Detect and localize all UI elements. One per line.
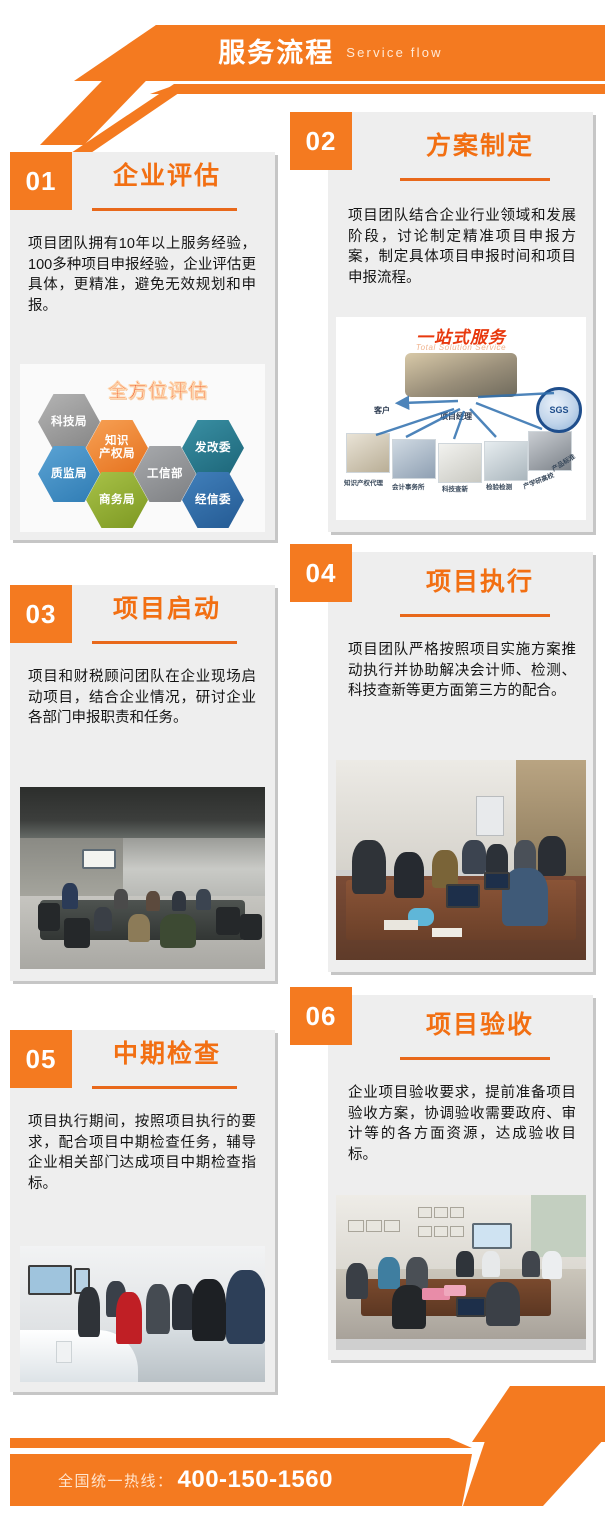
step-title-06: 项目验收 [380, 1013, 580, 1038]
header-title-cn: 服务流程 [218, 40, 334, 67]
footer-text-group: 全国统一热线： 400-150-1560 [58, 1454, 333, 1506]
step-title-04: 项目执行 [380, 570, 580, 595]
header-title-en: Service flow [346, 45, 442, 62]
step-card-03[interactable]: 03 项目启动 项目和财税顾问团队在企业现场启动项目，结合企业情况，研讨企业各部… [10, 585, 275, 981]
title-underline-03 [92, 641, 237, 644]
step-number-badge-05: 05 [10, 1030, 72, 1088]
showroom-visit-photo [20, 1246, 265, 1382]
step-title-03: 项目启动 [72, 597, 262, 622]
title-underline-05 [92, 1086, 237, 1089]
step-body-04: 项目团队严格按照项目实施方案推动执行并协助解决会计师、检测、科技查新等更方面第三… [348, 640, 576, 702]
footer-hotline-number[interactable]: 400-150-1560 [178, 1466, 333, 1494]
step-number-badge-06: 06 [290, 987, 352, 1045]
step-card-04[interactable]: 04 项目执行 项目团队严格按照项目实施方案推动执行并协助解决会计师、检测、科技… [328, 552, 593, 972]
footer-hotline-banner: 全国统一热线： 400-150-1560 [0, 1438, 605, 1538]
step-body-02: 项目团队结合企业行业领域和发展阶段，讨论制定精准项目申报方案，制定具体项目申报时… [348, 206, 576, 288]
service-flow-infographic: 服务流程 Service flow 01 企业评估 项目团队拥有10年以上服务经… [0, 0, 605, 1538]
step-card-06[interactable]: 06 项目验收 企业项目验收要求，提前准备项目验收方案，协调验收需要政府、审计等… [328, 995, 593, 1360]
hex-diagram-title: 全方位评估 [108, 376, 208, 403]
step-body-06: 企业项目验收要求，提前准备项目验收方案，协调验收需要政府、审计等的各方面资源，达… [348, 1083, 576, 1165]
step-body-05: 项目执行期间，按照项目执行的要求，配合项目中期检查任务，辅导企业相关部门达成项目… [28, 1112, 256, 1194]
step-number-badge-04: 04 [290, 544, 352, 602]
header-banner: 服务流程 Service flow [0, 0, 605, 112]
header-title-group: 服务流程 Service flow [0, 25, 605, 81]
title-underline-06 [400, 1057, 550, 1060]
step-card-02[interactable]: 02 方案制定 项目团队结合企业行业领域和发展阶段，讨论制定精准项目申报方案，制… [328, 112, 593, 532]
step-title-01: 企业评估 [72, 164, 262, 189]
one-stop-arrows [336, 317, 586, 520]
conference-room-photo [20, 787, 265, 969]
assessment-hex-diagram: 全方位评估 科技局 知识 产权局 质监局 工信部 商务局 发改委 经信委 [20, 364, 265, 532]
step-card-05[interactable]: 05 中期检查 项目执行期间，按照项目执行的要求，配合项目中期检查任务，辅导企业… [10, 1030, 275, 1392]
step-body-03: 项目和财税顾问团队在企业现场启动项目，结合企业情况，研讨企业各部门申报职责和任务… [28, 667, 256, 729]
step-body-01: 项目团队拥有10年以上服务经验，100多种项目申报经验，企业评估更具体，更精准，… [28, 234, 256, 316]
footer-hotline-label: 全国统一热线： [58, 1470, 174, 1491]
step-number-badge-02: 02 [290, 112, 352, 170]
step-card-01[interactable]: 01 企业评估 项目团队拥有10年以上服务经验，100多种项目申报经验，企业评估… [10, 152, 275, 540]
step-number-badge-01: 01 [10, 152, 72, 210]
step-number-badge-03: 03 [10, 585, 72, 643]
footer-chevron-top-shape [414, 1386, 605, 1442]
one-stop-service-diagram: 一站式服务 Total Solution Service 客户 项目经理 知识产… [336, 317, 586, 520]
acceptance-meeting-photo [336, 1195, 586, 1350]
title-underline-01 [92, 208, 237, 211]
step-title-02: 方案制定 [380, 134, 580, 159]
title-underline-02 [400, 178, 550, 181]
title-underline-04 [400, 614, 550, 617]
step-title-05: 中期检查 [72, 1042, 262, 1067]
working-meeting-photo [336, 760, 586, 960]
